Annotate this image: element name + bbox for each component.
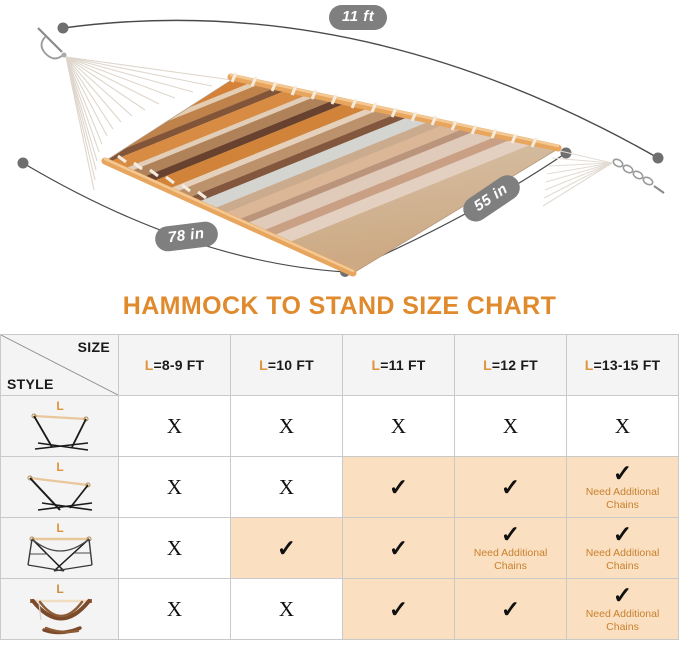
cell-mark: ✓ bbox=[389, 537, 408, 560]
table-row: L X X ✓ ✓ bbox=[1, 457, 679, 518]
cell-mark: ✓ bbox=[613, 462, 632, 485]
cell-mark: X bbox=[279, 416, 294, 437]
cell-r2c3: ✓ bbox=[343, 457, 455, 518]
cell-r3c2: ✓ bbox=[231, 518, 343, 579]
cell-r3c4: ✓ Need Additional Chains bbox=[455, 518, 567, 579]
cell-r4c3: ✓ bbox=[343, 579, 455, 640]
cell-mark: X bbox=[167, 599, 182, 620]
cell-r4c2: X bbox=[231, 579, 343, 640]
cell-r3c3: ✓ bbox=[343, 518, 455, 579]
column-header-suffix: =10 FT bbox=[268, 357, 314, 373]
cell-mark: ✓ bbox=[277, 537, 296, 560]
cell-r1c2: X bbox=[231, 396, 343, 457]
cell-mark: ✓ bbox=[501, 598, 520, 621]
column-header-13-15ft: L=13-15 FT bbox=[567, 335, 679, 396]
span-endpoint-left bbox=[58, 23, 69, 34]
cell-r3c5: ✓ Need Additional Chains bbox=[567, 518, 679, 579]
cell-r1c1: X bbox=[119, 396, 231, 457]
cell-note: Need Additional Chains bbox=[567, 608, 678, 633]
cell-mark: X bbox=[615, 416, 630, 437]
right-rope-fan bbox=[543, 150, 612, 206]
cell-mark: ✓ bbox=[613, 584, 632, 607]
dimension-badge-span: 11 ft bbox=[329, 5, 387, 30]
column-header-suffix: =8-9 FT bbox=[153, 357, 204, 373]
cell-mark: X bbox=[503, 416, 518, 437]
hammock-stand-size-table: SIZE STYLE L=8-9 FT L=10 FT L=11 FT L=12… bbox=[0, 334, 679, 640]
cell-mark: ✓ bbox=[501, 476, 520, 499]
table-row: L X X X X bbox=[1, 396, 679, 457]
length-endpoint-left bbox=[18, 158, 29, 169]
cell-note: Need Additional Chains bbox=[567, 486, 678, 511]
cell-mark: X bbox=[167, 538, 182, 559]
style-cell-steel-trapezoid-stand: L bbox=[1, 396, 119, 457]
cell-r1c5: X bbox=[567, 396, 679, 457]
cell-r2c4: ✓ bbox=[455, 457, 567, 518]
corner-style-label: STYLE bbox=[7, 376, 54, 392]
column-header-suffix: =13-15 FT bbox=[593, 357, 660, 373]
steel-v-shape-stand-icon: L bbox=[4, 519, 116, 577]
span-endpoint-right bbox=[653, 153, 664, 164]
column-header-prefix: L bbox=[372, 357, 381, 373]
cell-r3c1: X bbox=[119, 518, 231, 579]
column-header-8-9ft: L=8-9 FT bbox=[119, 335, 231, 396]
cell-r4c5: ✓ Need Additional Chains bbox=[567, 579, 679, 640]
column-header-12ft: L=12 FT bbox=[455, 335, 567, 396]
hammock-illustration: 11 ft 78 in 55 in bbox=[0, 0, 679, 290]
column-header-prefix: L bbox=[259, 357, 268, 373]
wooden-arc-stand-icon: L bbox=[4, 580, 116, 638]
cell-r2c2: X bbox=[231, 457, 343, 518]
hammock-drawing bbox=[0, 0, 679, 290]
cell-r2c1: X bbox=[119, 457, 231, 518]
cell-note: Need Additional Chains bbox=[567, 547, 678, 572]
corner-header-cell: SIZE STYLE bbox=[1, 335, 119, 396]
style-cell-steel-slanted-stand: L bbox=[1, 457, 119, 518]
table-header-row: SIZE STYLE L=8-9 FT L=10 FT L=11 FT L=12… bbox=[1, 335, 679, 396]
table-row: L X X ✓ ✓ bbox=[1, 579, 679, 640]
hammock-bed bbox=[0, 0, 679, 290]
style-letter: L bbox=[56, 399, 63, 413]
page-title: HAMMOCK TO STAND SIZE CHART bbox=[0, 290, 679, 334]
cell-mark: X bbox=[167, 416, 182, 437]
cell-mark: ✓ bbox=[389, 598, 408, 621]
cell-r1c4: X bbox=[455, 396, 567, 457]
cell-r4c1: X bbox=[119, 579, 231, 640]
cell-mark: ✓ bbox=[389, 476, 408, 499]
column-header-suffix: =11 FT bbox=[380, 357, 425, 373]
column-header-prefix: L bbox=[483, 357, 492, 373]
table-row: L X ✓ bbox=[1, 518, 679, 579]
cell-mark: X bbox=[167, 477, 182, 498]
column-header-suffix: =12 FT bbox=[492, 357, 538, 373]
column-header-11ft: L=11 FT bbox=[343, 335, 455, 396]
cell-note: Need Additional Chains bbox=[455, 547, 566, 572]
style-letter: L bbox=[56, 582, 63, 596]
cell-r1c3: X bbox=[343, 396, 455, 457]
steel-slanted-stand-icon: L bbox=[4, 458, 116, 516]
style-cell-steel-v-shape-stand: L bbox=[1, 518, 119, 579]
cell-r4c4: ✓ bbox=[455, 579, 567, 640]
steel-trapezoid-stand-icon: L bbox=[4, 397, 116, 455]
fabric-stripes bbox=[0, 0, 679, 290]
corner-size-label: SIZE bbox=[78, 339, 110, 355]
cell-r2c5: ✓ Need Additional Chains bbox=[567, 457, 679, 518]
cell-mark: X bbox=[279, 477, 294, 498]
style-letter: L bbox=[56, 521, 63, 535]
style-letter: L bbox=[56, 460, 63, 474]
style-cell-wooden-arc-stand: L bbox=[1, 579, 119, 640]
cell-mark: X bbox=[391, 416, 406, 437]
cell-mark: ✓ bbox=[613, 523, 632, 546]
cell-mark: ✓ bbox=[501, 523, 520, 546]
column-header-10ft: L=10 FT bbox=[231, 335, 343, 396]
cell-mark: X bbox=[279, 599, 294, 620]
